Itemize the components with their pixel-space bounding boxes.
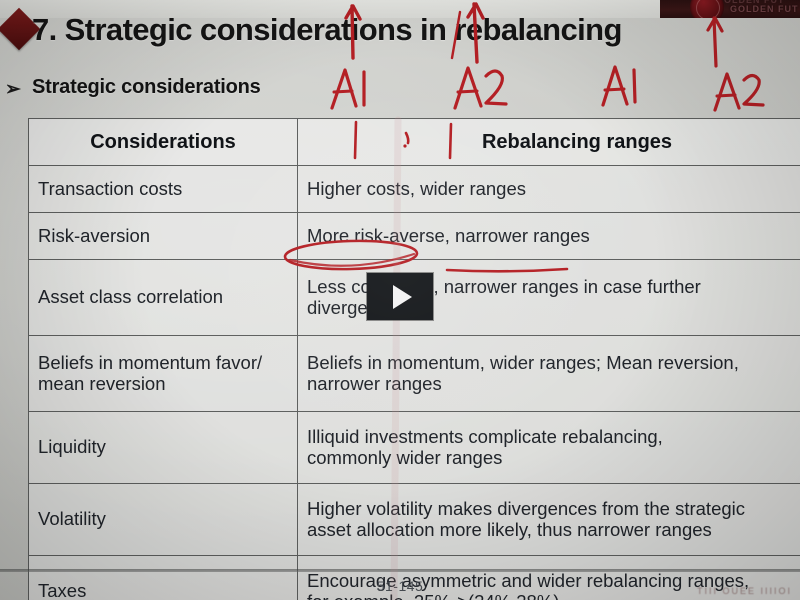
- table-row: Volatility Higher volatility makes diver…: [29, 484, 800, 556]
- cell-consideration: Transaction costs: [29, 166, 298, 213]
- cell-range: Higher costs, wider ranges: [298, 166, 800, 213]
- cell-range-line: Higher costs, wider ranges: [307, 179, 800, 200]
- header-considerations: Considerations: [29, 119, 298, 166]
- play-triangle-icon: [393, 285, 412, 309]
- cell-consideration: Liquidity: [29, 412, 298, 484]
- cell-consideration: Risk-aversion: [29, 213, 298, 260]
- considerations-table: Considerations Rebalancing ranges Transa…: [28, 118, 800, 600]
- cell-consideration: Beliefs in momentum favor/ mean reversio…: [29, 336, 298, 412]
- slide-footer-right-text: TIII OUEE IIIIOI: [697, 586, 792, 596]
- photographed-slide-screen: OLDEN FUT GOLDEN FUT 7. Strategic consid…: [0, 0, 800, 600]
- considerations-table-wrap: Considerations Rebalancing ranges Transa…: [28, 118, 800, 576]
- cell-range-line: commonly wider ranges: [307, 448, 800, 469]
- cell-range: Beliefs in momentum, wider ranges; Mean …: [298, 336, 800, 412]
- video-play-button[interactable]: [367, 273, 433, 320]
- cell-range: More risk-averse, narrower ranges: [298, 213, 800, 260]
- cell-consideration-line: Beliefs in momentum favor/ mean reversio…: [38, 353, 288, 394]
- slide-page-number: 51-145: [0, 578, 800, 594]
- slide-bottom-rule: [0, 569, 800, 572]
- cell-range-line: Higher volatility makes divergences from…: [307, 499, 800, 520]
- table-header-row: Considerations Rebalancing ranges: [29, 119, 800, 166]
- arrow-bullet-icon: ➢: [5, 78, 21, 101]
- cell-range: Illiquid investments complicate rebalanc…: [298, 412, 800, 484]
- cell-range-line: Beliefs in momentum, wider ranges; Mean …: [307, 353, 800, 374]
- cell-range: Higher volatility makes divergences from…: [298, 484, 800, 556]
- cell-range-line: More risk-averse, narrower ranges: [307, 226, 800, 247]
- table-row: Risk-aversion More risk-averse, narrower…: [29, 213, 800, 260]
- cell-consideration: Volatility: [29, 484, 298, 556]
- table-row: Beliefs in momentum favor/ mean reversio…: [29, 336, 800, 412]
- cell-range-line: asset allocation more likely, thus narro…: [307, 520, 800, 541]
- header-rebalancing-ranges: Rebalancing ranges: [298, 119, 800, 166]
- cell-consideration: Asset class correlation: [29, 260, 298, 336]
- table-row: Transaction costs Higher costs, wider ra…: [29, 166, 800, 213]
- table-row: Liquidity Illiquid investments complicat…: [29, 412, 800, 484]
- cell-range-line: narrower ranges: [307, 374, 800, 395]
- cell-range-line: Illiquid investments complicate rebalanc…: [307, 427, 800, 448]
- slide-subtitle: Strategic considerations: [32, 76, 261, 99]
- slide-title: 7. Strategic considerations in rebalanci…: [32, 12, 752, 48]
